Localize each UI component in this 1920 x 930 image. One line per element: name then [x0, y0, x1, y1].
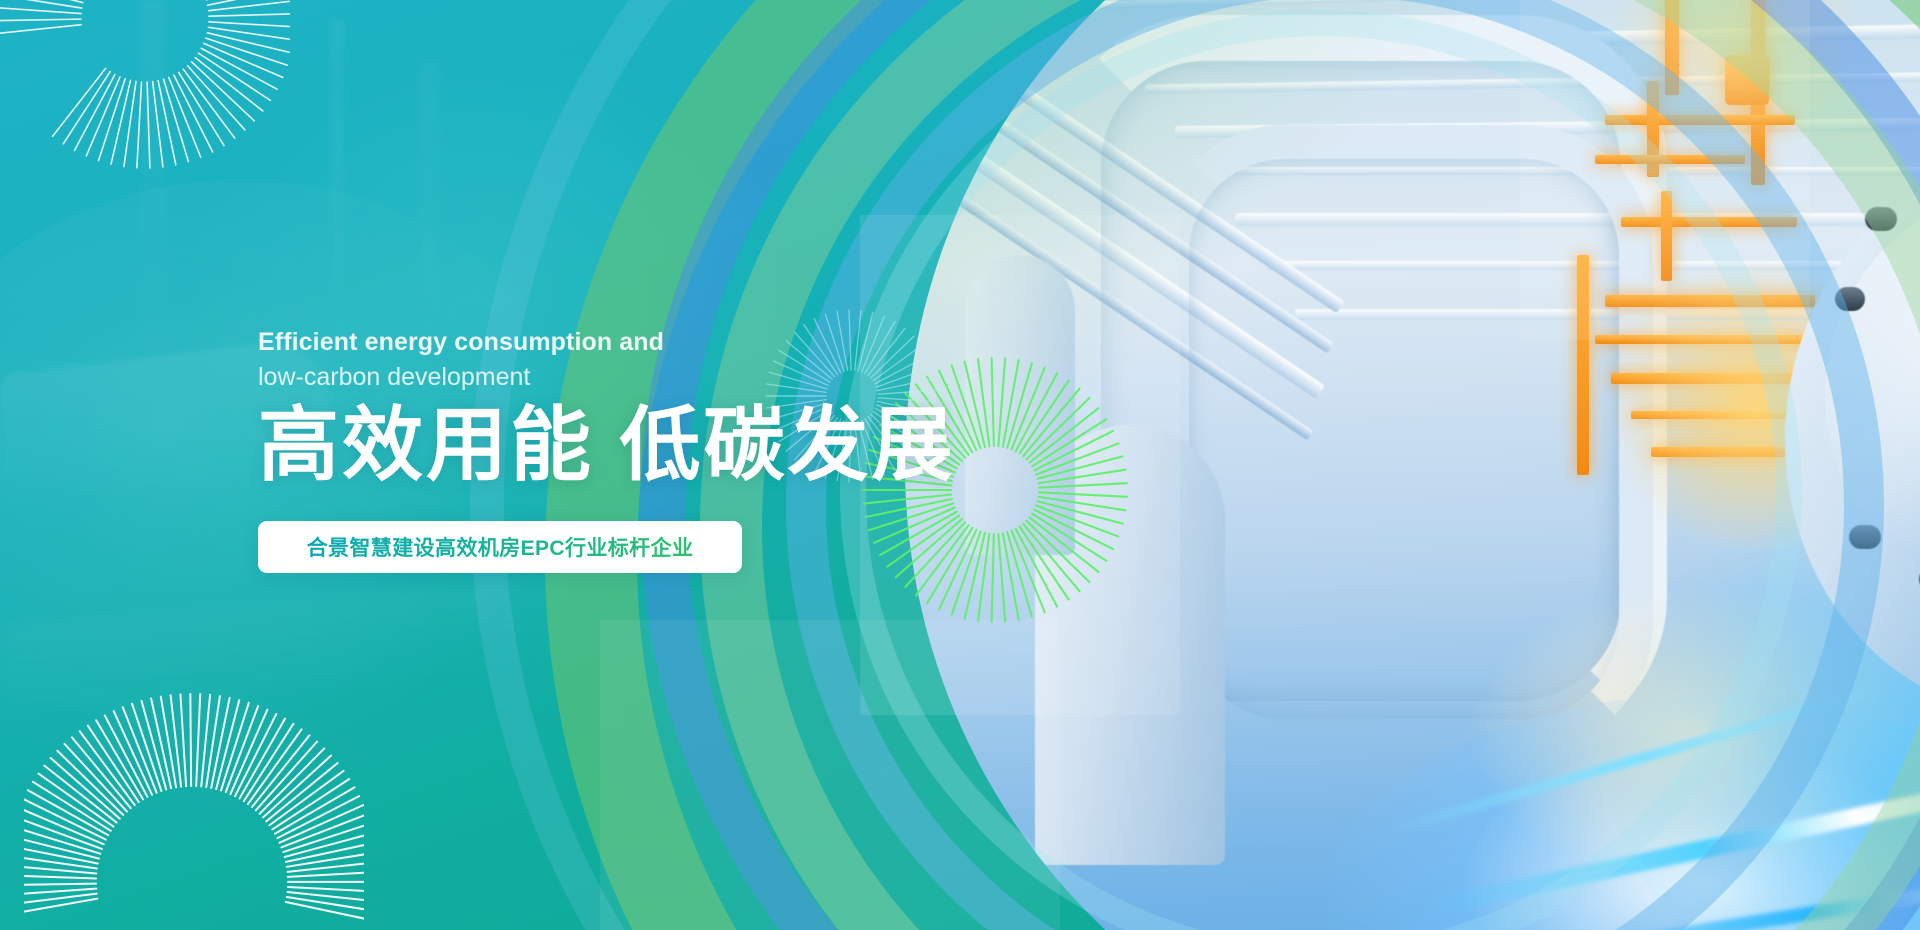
page-title: 高效用能 低碳发展 [258, 406, 1018, 487]
background-ghost-shape [420, 60, 438, 360]
hero-banner: Efficient energy consumption and low-car… [0, 0, 1920, 930]
hero-copy: Efficient energy consumption and low-car… [258, 330, 1018, 487]
eyebrow-line-1: Efficient energy consumption and [258, 330, 1018, 355]
tagline-text: 合景智慧建设高效机房EPC行业标杆企业 [307, 532, 694, 562]
industrial-pipework-photo [905, 0, 1920, 930]
sunburst-icon [24, 592, 364, 930]
background-ghost-shape [140, 0, 166, 360]
sunburst-icon [0, 0, 290, 218]
background-ghost-shape [330, 20, 344, 350]
tagline-pill[interactable]: 合景智慧建设高效机房EPC行业标杆企业 [258, 521, 742, 573]
eyebrow-line-2: low-carbon development [258, 365, 1018, 390]
background-ghost-shape [0, 576, 560, 735]
